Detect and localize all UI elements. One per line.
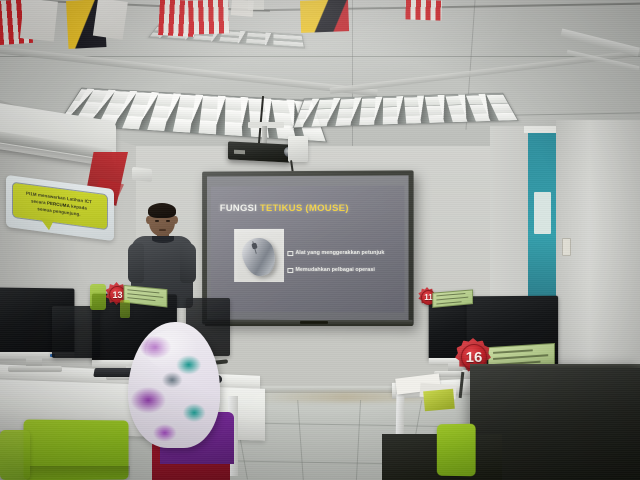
ceiling-seam bbox=[352, 0, 353, 150]
presenter-eye bbox=[166, 220, 170, 222]
monitor-screen[interactable] bbox=[52, 306, 100, 358]
slide-title-white: FUNGSI bbox=[220, 203, 257, 214]
wall-poster bbox=[534, 192, 551, 234]
slide-title-yellow: TETIKUS (MOUSE) bbox=[260, 203, 349, 214]
bunting-flag-diagonal bbox=[300, 0, 349, 33]
bunting-flag-stripe bbox=[405, 0, 442, 21]
slide-title: FUNGSI TETIKUS (MOUSE) bbox=[220, 203, 390, 214]
slide-bullet-list: Alat yang menggerakkan petunjuk Memudahk… bbox=[287, 250, 399, 285]
presenter-arm bbox=[180, 243, 196, 283]
slide-bullet-item: Memudahkan pelbagai operasi bbox=[287, 267, 399, 273]
chair-green-back-row[interactable] bbox=[120, 300, 130, 318]
projector-bracket bbox=[288, 136, 308, 162]
presenter-eye bbox=[155, 220, 159, 222]
presenter-hair bbox=[148, 203, 176, 218]
presenter-mouth bbox=[159, 229, 166, 231]
bullet-text: Memudahkan pelbagai operasi bbox=[295, 267, 375, 273]
light-switch[interactable] bbox=[562, 238, 571, 256]
checkbox-icon bbox=[287, 268, 293, 274]
sign-line-2-pre: secara bbox=[31, 198, 47, 205]
monitor-base bbox=[8, 366, 62, 372]
station-number: 16 bbox=[466, 349, 483, 366]
station-number: 13 bbox=[112, 290, 122, 300]
bunting-flag-white bbox=[20, 0, 58, 42]
bunting-flag-white bbox=[93, 0, 128, 40]
classroom-photo: PI1M menawarkan Latihan ICT secara PERCU… bbox=[0, 0, 640, 480]
bullet-text: Alat yang menggerakkan petunjuk bbox=[295, 250, 384, 256]
chair-green-back-row[interactable] bbox=[90, 284, 106, 310]
checkbox-icon bbox=[287, 251, 293, 257]
slide-bullet-item: Alat yang menggerakkan petunjuk bbox=[287, 250, 399, 256]
chair-shadow bbox=[24, 466, 130, 480]
whiteboard-marker[interactable] bbox=[300, 321, 328, 324]
chair-green-right[interactable] bbox=[437, 424, 476, 477]
desk-notebook bbox=[423, 389, 455, 412]
bunting-flag-white bbox=[248, 0, 264, 10]
mouse-illustration bbox=[234, 229, 284, 282]
presenter-arm bbox=[128, 243, 144, 283]
projector-mount-arm bbox=[262, 126, 267, 144]
bunting-flag-stripe bbox=[188, 0, 229, 35]
sign-line-2-post: kepada bbox=[70, 204, 87, 211]
headscarf-highlight bbox=[146, 330, 198, 370]
projector-vent bbox=[234, 150, 245, 155]
presenter-collar bbox=[152, 236, 174, 243]
wall-speaker bbox=[132, 167, 152, 182]
chair-green-edge[interactable] bbox=[0, 430, 30, 480]
